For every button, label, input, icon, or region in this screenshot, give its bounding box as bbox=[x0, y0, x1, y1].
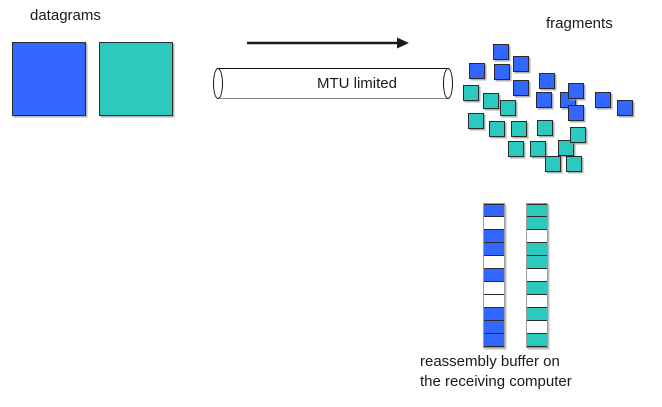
buffer-cell bbox=[484, 282, 504, 295]
fragment-square bbox=[500, 100, 516, 116]
fragment-square bbox=[489, 121, 505, 137]
fragment-square bbox=[483, 93, 499, 109]
buffer-cell bbox=[527, 321, 547, 334]
fragment-square bbox=[617, 100, 633, 116]
buffer-cell bbox=[484, 243, 504, 256]
caption-line-1: reassembly buffer on bbox=[420, 352, 572, 372]
fragment-square bbox=[595, 92, 611, 108]
caption-line-2: the receiving computer bbox=[420, 372, 572, 392]
fragment-square bbox=[568, 83, 584, 99]
fragment-square bbox=[494, 64, 510, 80]
diagram-canvas: datagrams MTU limited fragments reassemb… bbox=[0, 0, 662, 407]
fragment-square bbox=[508, 141, 524, 157]
fragment-square bbox=[536, 92, 552, 108]
fragment-square bbox=[513, 80, 529, 96]
fragments-label: fragments bbox=[546, 14, 613, 34]
reassembly-caption: reassembly buffer on the receiving compu… bbox=[420, 352, 572, 392]
buffer-cell bbox=[527, 295, 547, 308]
buffer-cell bbox=[484, 321, 504, 334]
mtu-pipe: MTU limited bbox=[213, 68, 453, 100]
pipe-label: MTU limited bbox=[213, 68, 453, 99]
datagram-blue bbox=[12, 42, 86, 116]
buffer-column-blue bbox=[483, 203, 505, 348]
fragment-square bbox=[568, 105, 584, 121]
fragment-square bbox=[511, 121, 527, 137]
fragment-square bbox=[570, 127, 586, 143]
buffer-cell bbox=[484, 269, 504, 282]
buffer-cell bbox=[484, 295, 504, 308]
buffer-cell bbox=[527, 269, 547, 282]
fragment-square bbox=[469, 63, 485, 79]
buffer-cell bbox=[484, 256, 504, 269]
flow-direction-arrow bbox=[247, 36, 409, 50]
buffer-cell bbox=[484, 204, 504, 217]
buffer-cell bbox=[527, 256, 547, 269]
fragment-square bbox=[566, 156, 582, 172]
datagrams-label: datagrams bbox=[30, 6, 101, 26]
buffer-cell bbox=[484, 230, 504, 243]
fragment-square bbox=[513, 56, 529, 72]
buffer-cell bbox=[527, 308, 547, 321]
fragment-square bbox=[530, 141, 546, 157]
fragment-square bbox=[493, 44, 509, 60]
buffer-cell bbox=[527, 217, 547, 230]
buffer-cell bbox=[484, 308, 504, 321]
fragment-square bbox=[463, 85, 479, 101]
buffer-cell bbox=[527, 334, 547, 347]
buffer-cell bbox=[484, 334, 504, 347]
buffer-cell bbox=[527, 204, 547, 217]
buffer-cell bbox=[527, 243, 547, 256]
fragment-square bbox=[537, 120, 553, 136]
buffer-column-teal bbox=[526, 203, 548, 348]
datagram-teal bbox=[99, 42, 173, 116]
buffer-cell bbox=[484, 217, 504, 230]
fragment-square bbox=[545, 156, 561, 172]
fragment-square bbox=[468, 113, 484, 129]
buffer-cell bbox=[527, 282, 547, 295]
fragment-square bbox=[539, 73, 555, 89]
buffer-cell bbox=[527, 230, 547, 243]
